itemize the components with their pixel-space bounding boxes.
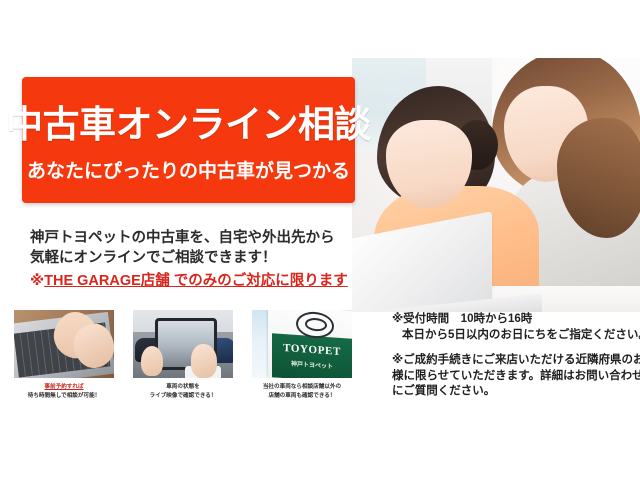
lead-paragraph: 神戸トヨペットの中古車を、自宅や外出先から 気軽にオンラインでご相談できます！ … <box>30 228 360 291</box>
feature-item-3: TOYOPET 神戸トヨペット 当社の車両なら相談店舗以外の 店舗の車両も確認で… <box>252 310 352 400</box>
lead-line-2: 気軽にオンラインでご相談できます！ <box>30 248 360 268</box>
notes-spacer <box>392 343 632 353</box>
feature-2-caption-line-1: 車両の状態を <box>133 383 233 391</box>
feature-3-photo: TOYOPET 神戸トヨペット <box>252 310 352 378</box>
feature-1-caption-highlight: 事前予約すれば <box>44 384 83 390</box>
lead-restriction-note: ※THE GARAGE店舗 でのみのご対応に限ります <box>30 271 360 291</box>
banner-subtitle: あなたにぴったりの中古車が見つかる <box>27 162 350 181</box>
note-mark: ※ <box>30 273 44 289</box>
notes-block: ※受付時間 10時から16時 本日から5日以内のお日にちをご指定ください。 ※ご… <box>392 312 632 400</box>
feature-1-photo <box>14 310 114 378</box>
hand-holding-tablet-right <box>191 344 217 378</box>
feature-item-1: 事前予約すれば 待ち時間無しで相談が可能！ <box>14 310 114 400</box>
feature-2-photo <box>133 310 233 378</box>
headline-banner: 中古車オンライン相談 あなたにぴったりの中古車が見つかる <box>22 77 355 203</box>
note-1-line-2: 本日から5日以内のお日にちをご指定ください。 <box>392 328 632 344</box>
feature-item-2: 車両の状態を ライブ映像で確認できる！ <box>133 310 233 400</box>
feature-3-caption-line-2: 店舗の車両も確認できる！ <box>252 392 352 400</box>
note-2-line-2: 様に限らせていただきます。詳細はお問い合わせ時 <box>392 369 632 385</box>
feature-2-caption-line-2: ライブ映像で確認できる！ <box>133 392 233 400</box>
hero-photo-mother-daughter-laptop <box>352 58 640 312</box>
note-2-line-1: ※ご成約手続きにご来店いただける近隣府県のお客 <box>392 353 632 369</box>
lead-line-1: 神戸トヨペットの中古車を、自宅や外出先から <box>30 228 360 248</box>
hand-holding-tablet-left <box>141 346 163 376</box>
feature-1-caption-line-2: 待ち時間無しで相談が可能！ <box>14 392 114 400</box>
feature-3-caption-line-1: 当社の車両なら相談店舗以外の <box>252 383 352 391</box>
note-1-line-1: ※受付時間 10時から16時 <box>392 312 632 328</box>
feature-1-caption-line-1: 事前予約すれば <box>14 383 114 391</box>
note-underlined-text: THE GARAGE店舗 でのみのご対応に限ります <box>44 273 348 289</box>
note-2-line-3: にご質問ください。 <box>392 384 632 400</box>
advertisement-banner: 中古車オンライン相談 あなたにぴったりの中古車が見つかる 神戸トヨペットの中古車… <box>0 0 640 480</box>
banner-title: 中古車オンライン相談 <box>6 106 371 143</box>
